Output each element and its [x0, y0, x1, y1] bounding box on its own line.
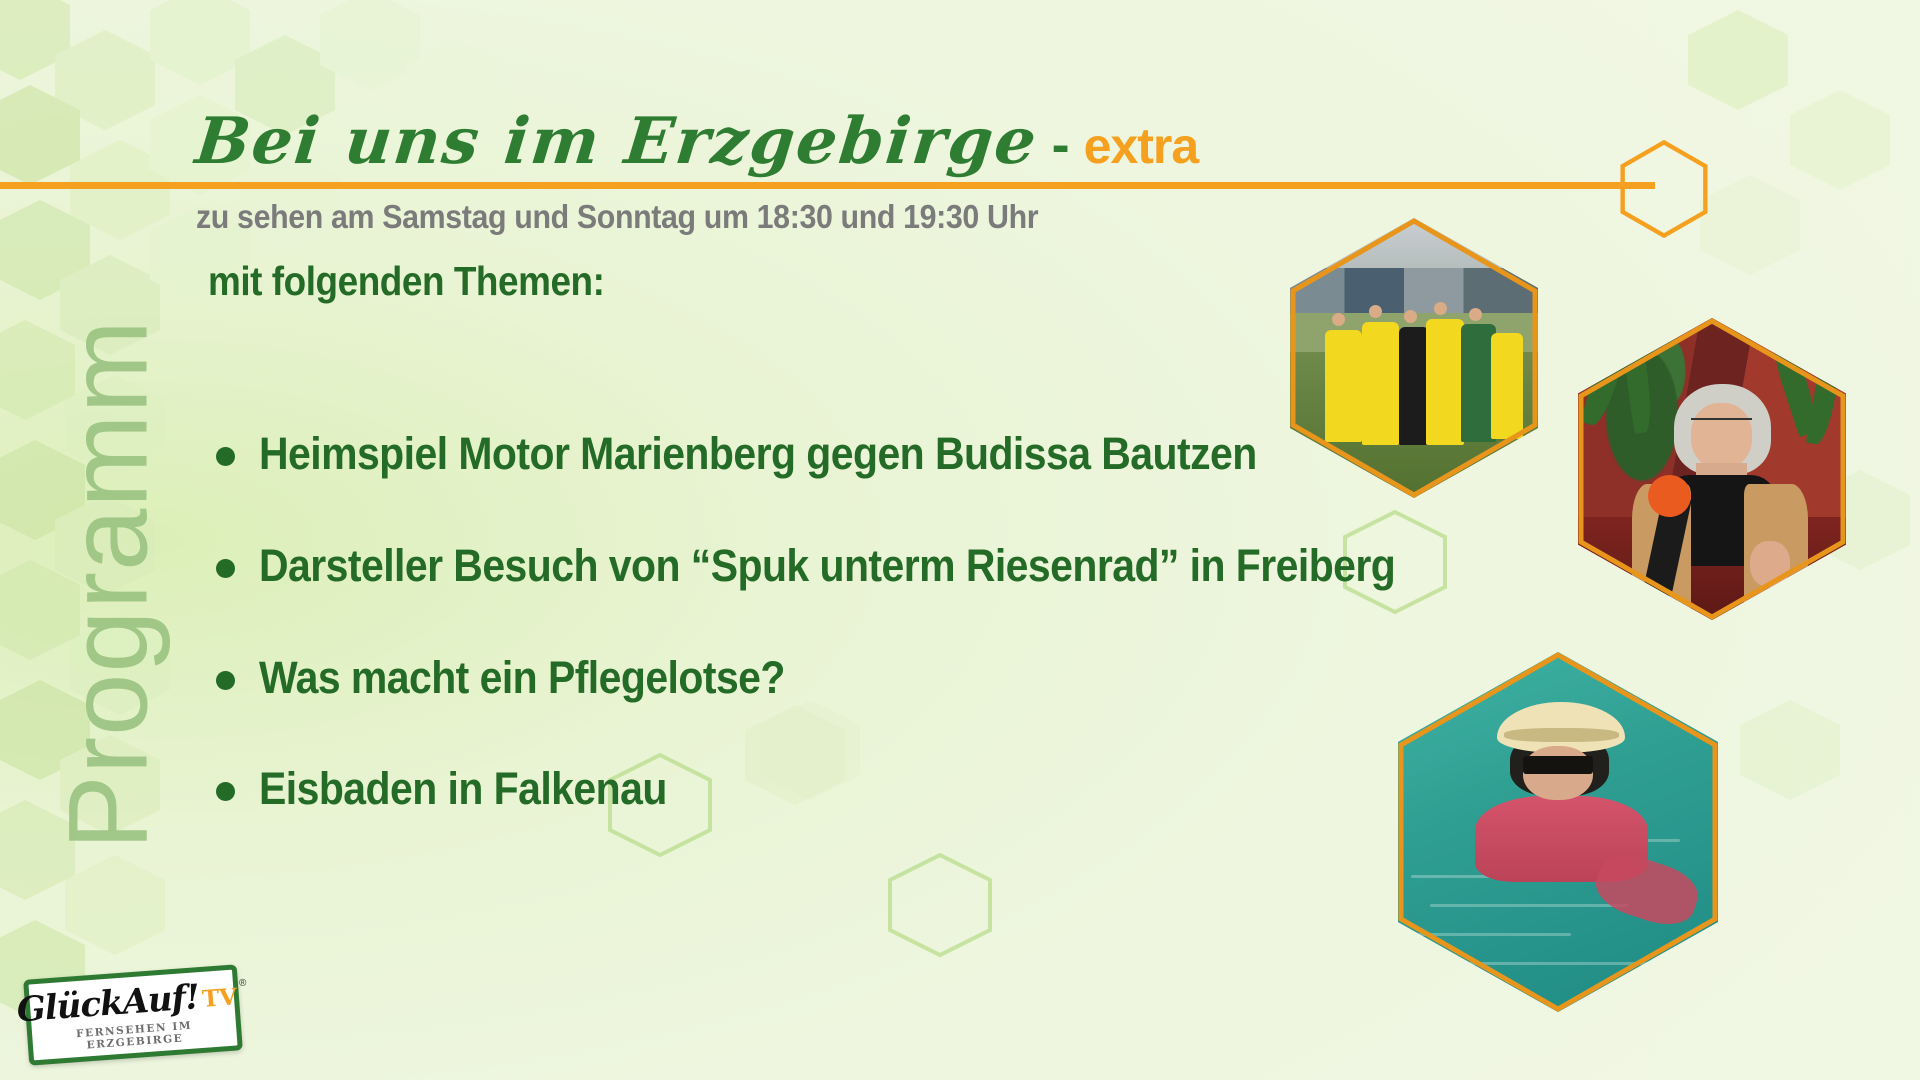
list-item: Eisbaden in Falkenau — [216, 763, 1466, 815]
photo-player-head — [1332, 313, 1345, 326]
rule-hexagon-icon — [1620, 140, 1708, 238]
photo-player — [1491, 333, 1523, 439]
logo-registered-icon: ® — [239, 977, 247, 989]
show-title-row: Bei uns im Erzgebirge - extra — [196, 104, 1198, 179]
bullet-dot-icon — [216, 559, 235, 578]
photo-hat-band — [1504, 728, 1619, 742]
photo-face — [1691, 403, 1753, 469]
photo-buildings — [1290, 268, 1538, 313]
photo-player — [1362, 322, 1399, 445]
list-item: Heimspiel Motor Marienberg gegen Budissa… — [216, 428, 1466, 480]
photo-player-head — [1404, 310, 1417, 323]
themes-intro-text: mit folgenden Themen: — [208, 258, 604, 305]
programm-vertical-label: Programm — [44, 235, 173, 935]
photo-glasses — [1691, 418, 1753, 436]
topic-label: Eisbaden in Falkenau — [259, 763, 667, 815]
title-separator: - — [1052, 114, 1070, 176]
photo-microphone-head — [1648, 475, 1691, 517]
title-extra-badge: extra — [1084, 117, 1199, 175]
photo-ripple — [1430, 904, 1628, 907]
photo-sunglasses — [1523, 756, 1593, 774]
show-title: Bei uns im Erzgebirge — [192, 104, 1042, 179]
station-logo: GlückAuf! TV ® FERNSEHEN IM ERZGEBIRGE — [26, 972, 240, 1058]
broadcast-times-subtitle: zu sehen am Samstag und Sonntag um 18:30… — [196, 198, 1038, 236]
bullet-dot-icon — [216, 671, 235, 690]
topic-label: Darsteller Besuch von “Spuk unterm Riese… — [259, 540, 1395, 592]
photo-player-head — [1469, 308, 1482, 321]
photo-player-head — [1434, 302, 1447, 315]
photo-ripple — [1404, 933, 1570, 936]
bullet-dot-icon — [216, 782, 235, 801]
topic-label: Heimspiel Motor Marienberg gegen Budissa… — [259, 428, 1257, 480]
photo-player — [1325, 330, 1362, 442]
logo-content: GlückAuf! TV ® FERNSEHEN IM ERZGEBIRGE — [23, 964, 243, 1065]
topic-list: Heimspiel Motor Marienberg gegen Budissa… — [216, 428, 1466, 875]
bullet-dot-icon — [216, 447, 235, 466]
photo-player-head — [1369, 305, 1382, 318]
photo-ripple — [1462, 962, 1648, 965]
list-item: Was macht ein Pflegelotse? — [216, 652, 1466, 704]
photo-player — [1426, 319, 1463, 445]
list-item: Darsteller Besuch von “Spuk unterm Riese… — [216, 540, 1466, 592]
logo-tv-suffix: TV — [201, 985, 238, 1010]
topic-label: Was macht ein Pflegelotse? — [259, 652, 785, 704]
title-underline-rule — [0, 182, 1655, 189]
photo-player — [1399, 327, 1429, 445]
slide-canvas: Programm Bei uns im Erzgebirge - extra z… — [0, 0, 1920, 1080]
